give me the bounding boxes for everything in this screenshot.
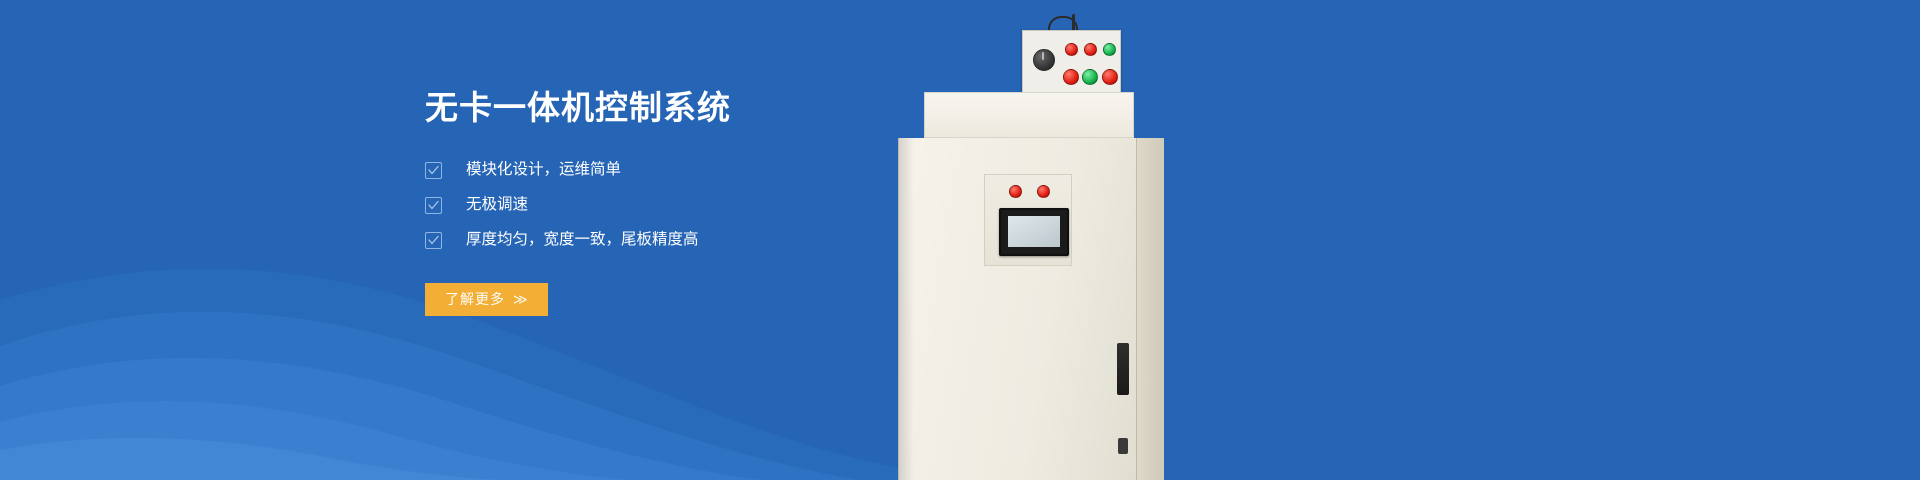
indicator-lamp-red[interactable] xyxy=(1084,43,1097,56)
indicator-lamp-red[interactable] xyxy=(1037,185,1050,198)
page-title: 无卡一体机控制系统 xyxy=(425,88,945,128)
door-handle[interactable] xyxy=(1117,343,1129,395)
cabinet-side-panel xyxy=(1137,138,1164,480)
feature-label: 无极调速 xyxy=(466,197,528,213)
chevron-right-icon: ≫ xyxy=(513,291,528,308)
check-icon xyxy=(425,232,442,249)
list-item: 厚度均匀，宽度一致，尾板精度高 xyxy=(425,232,945,249)
cabinet-top-shelf xyxy=(924,92,1134,138)
learn-more-button[interactable]: 了解更多 ≫ xyxy=(425,283,548,316)
feature-label: 厚度均匀，宽度一致，尾板精度高 xyxy=(466,232,699,248)
banner-content: 无卡一体机控制系统 模块化设计，运维简单 无极调速 xyxy=(425,88,945,316)
feature-list: 模块化设计，运维简单 无极调速 厚度均匀，宽度一致，尾板精度高 xyxy=(425,162,945,249)
hero-banner: 无卡一体机控制系统 模块化设计，运维简单 无极调速 xyxy=(0,0,1920,480)
rotary-knob-icon[interactable] xyxy=(1033,49,1055,71)
panel-inset xyxy=(984,174,1072,266)
indicator-lamp-red[interactable] xyxy=(1102,69,1118,85)
door-lock[interactable] xyxy=(1118,438,1128,454)
indicator-lamp-green[interactable] xyxy=(1082,69,1098,85)
screen-glass xyxy=(1008,216,1060,247)
hmi-touchscreen[interactable] xyxy=(999,208,1069,256)
learn-more-label: 了解更多 xyxy=(445,289,505,309)
indicator-lamp-red[interactable] xyxy=(1063,69,1079,85)
list-item: 模块化设计，运维简单 xyxy=(425,162,945,179)
cabinet-seam xyxy=(1136,138,1137,480)
indicator-lamp-red[interactable] xyxy=(1065,43,1078,56)
top-control-box xyxy=(1022,30,1121,98)
indicator-lamp-green[interactable] xyxy=(1103,43,1116,56)
list-item: 无极调速 xyxy=(425,197,945,214)
panel-lamp-row xyxy=(1003,185,1059,199)
feature-label: 模块化设计，运维简单 xyxy=(466,162,621,178)
check-icon xyxy=(425,197,442,214)
check-icon xyxy=(425,162,442,179)
indicator-lamp-red[interactable] xyxy=(1009,185,1022,198)
